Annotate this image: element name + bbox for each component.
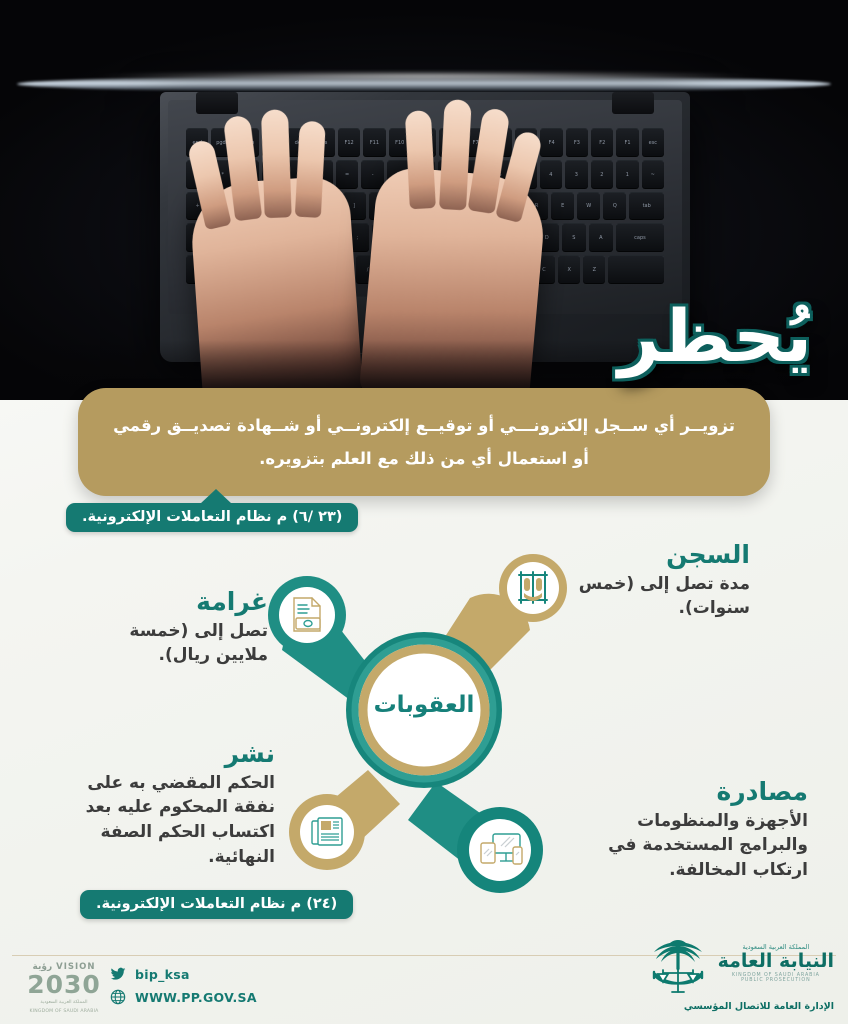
keyboard-key: 1 (616, 160, 638, 189)
laptop-screen-highlight (85, 72, 763, 80)
label-fine-body: تصل إلى (خمسة ملايين ريال). (88, 619, 268, 668)
keyboard-key: F2 (591, 128, 613, 157)
keyboard-key: 2 (591, 160, 613, 189)
label-confiscation: مصادرة الأجهزة والمنظومات والبرامج المست… (598, 778, 808, 883)
label-publish-body: الحكم المقضي به على نفقة المحكوم عليه بع… (75, 771, 275, 870)
pp-department-name: الإدارة العامة للاتصال المؤسسي (647, 1001, 834, 1012)
twitter-row[interactable]: bip_ksa (110, 966, 257, 982)
laptop-hinge-left (196, 92, 238, 114)
keyboard-key: ~ (642, 160, 664, 189)
label-fine: غرامة تصل إلى (خمسة ملايين ريال). (88, 588, 268, 668)
keyboard-key: 3 (565, 160, 587, 189)
label-confiscation-body: الأجهزة والمنظومات والبرامج المستخدمة في… (598, 809, 808, 883)
twitter-icon (110, 966, 126, 982)
keyboard-key: tab (629, 192, 664, 221)
keyboard-key: esc (642, 128, 664, 157)
node-publish (289, 794, 365, 870)
vision-2030-logo: VISION رؤية 2030 المملكة العربية السعودي… (18, 962, 110, 1015)
center-node-label: العقوبات (346, 692, 502, 718)
label-publish-title: نشر (75, 740, 275, 769)
website-row[interactable]: WWW.PP.GOV.SA (110, 989, 257, 1005)
vision-number: 2030 (18, 972, 110, 997)
label-confiscation-title: مصادرة (598, 778, 808, 807)
pp-line4: PUBLIC PROSECUTION (718, 978, 834, 983)
keyboard-key: - (361, 160, 383, 189)
keyboard-key: F1 (616, 128, 638, 157)
keyboard-key: X (558, 255, 580, 284)
keyboard-key: F3 (566, 128, 588, 157)
website-url: WWW.PP.GOV.SA (135, 990, 257, 1005)
invoice-money-icon (294, 598, 320, 631)
saudi-emblem-icon (647, 930, 709, 996)
prohibition-banner: تزويــر أي ســجل إلكترونـــي أو توقيــع … (78, 388, 770, 496)
globe-icon (110, 989, 126, 1005)
law-reference-tag-top: (٢٣ /٦) م نظام التعاملات الإلكترونية. (66, 503, 358, 532)
label-prison-title: السجن (560, 541, 750, 570)
pp-logo-words: المملكة العربية السعودية النيابة العامة … (718, 943, 834, 984)
pp-logo-top: المملكة العربية السعودية النيابة العامة … (647, 930, 834, 996)
keyboard-key: Z (583, 255, 605, 284)
prohibition-banner-text: تزويــر أي ســجل إلكترونـــي أو توقيــع … (112, 409, 736, 475)
page-title: يُحظر (618, 300, 812, 372)
keyboard-key: F12 (338, 128, 360, 157)
keyboard-key: caps (616, 223, 664, 252)
keyboard-key: 4 (540, 160, 562, 189)
scales-of-justice-icon (658, 968, 698, 992)
keyboard-key: F11 (363, 128, 385, 157)
node-fine (268, 576, 346, 654)
label-prison-body: مدة تصل إلى (خمس سنوات). (560, 572, 750, 621)
infographic-page: escF1F2F3F4F5F6F7F8F9F10F11F12insdelhome… (0, 0, 848, 1024)
keyboard-key: = (336, 160, 358, 189)
keyboard-key: S (562, 223, 586, 252)
palm-tree-icon (654, 940, 702, 970)
vision-sub-en: KINGDOM OF SAUDI ARABIA (18, 1009, 110, 1015)
prohibition-body: أي ســجل إلكترونـــي أو توقيــع إلكترونـ… (113, 416, 675, 468)
keyboard-key: A (589, 223, 613, 252)
pp-line2: النيابة العامة (718, 951, 834, 973)
twitter-handle: bip_ksa (135, 967, 190, 982)
laptop-hinge-right (612, 92, 654, 114)
public-prosecution-logo: المملكة العربية السعودية النيابة العامة … (647, 930, 834, 1012)
keyboard-key: Q (603, 192, 626, 221)
node-confiscation (457, 807, 543, 893)
contact-block: bip_ksa WWW.PP.GOV.SA (110, 966, 257, 1012)
vision-sub-ar: المملكة العربية السعودية (18, 1000, 110, 1006)
label-publish: نشر الحكم المقضي به على نفقة المحكوم علي… (75, 740, 275, 869)
keyboard-key: F4 (540, 128, 562, 157)
label-fine-title: غرامة (88, 588, 268, 617)
keyboard-key: E (551, 192, 574, 221)
law-reference-tag-bottom: (٢٤) م نظام التعاملات الإلكترونية. (80, 890, 353, 919)
keyboard-key (608, 255, 664, 284)
prohibition-lead: تزويــر (680, 416, 734, 435)
newspaper-icon (312, 818, 342, 845)
node-prison (499, 554, 567, 622)
keyboard-key: W (577, 192, 600, 221)
label-prison: السجن مدة تصل إلى (خمس سنوات). (560, 541, 750, 621)
